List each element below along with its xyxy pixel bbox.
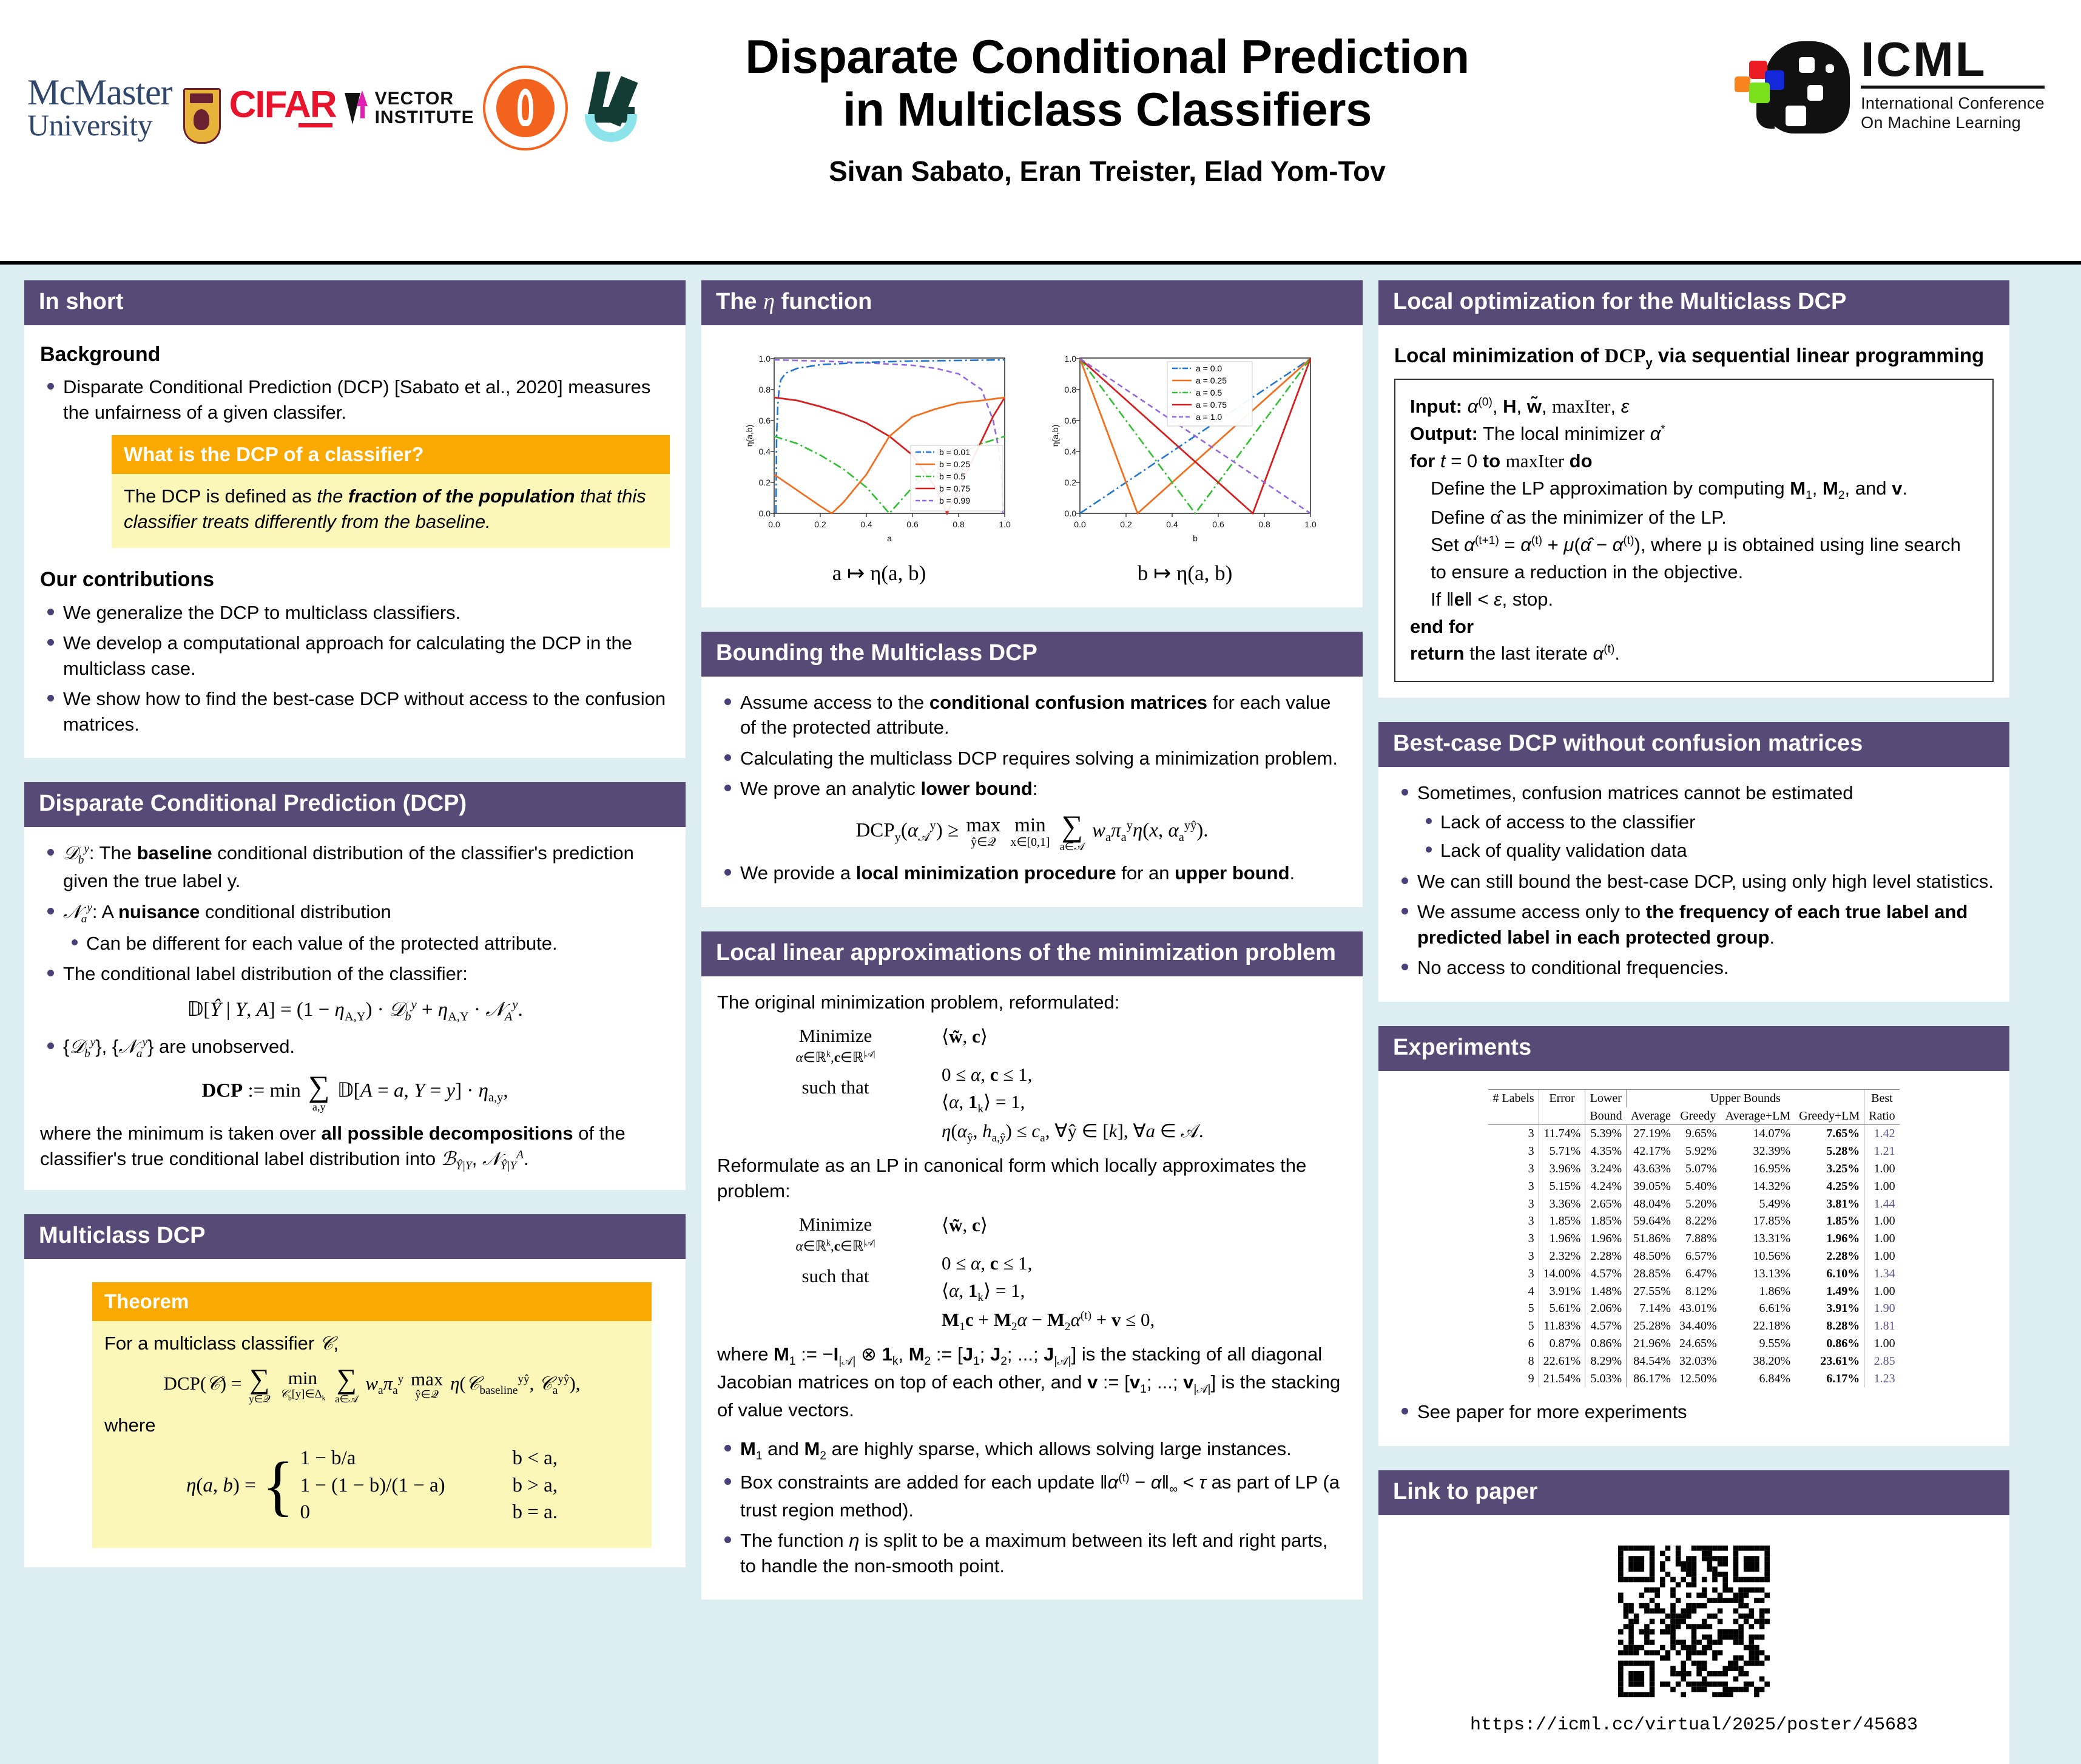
svg-text:0.2: 0.2: [759, 478, 771, 487]
svg-text:0.8: 0.8: [759, 385, 771, 394]
icml-logo: ICML International Conference On Machine…: [1735, 36, 2045, 133]
table-cell: 7.88%: [1675, 1230, 1721, 1248]
table-cell: 2.06%: [1585, 1300, 1627, 1317]
table-cell: 1.96%: [1539, 1230, 1585, 1248]
cifar-wordmark: CIFAR: [229, 88, 336, 122]
table-cell: 5.49%: [1721, 1195, 1795, 1213]
table-cell: 0.87%: [1539, 1335, 1585, 1353]
table-cell: 3: [1488, 1230, 1539, 1248]
algo-step-1: Define the LP approximation by computing…: [1410, 475, 1978, 504]
table-cell: 1.23: [1864, 1370, 1900, 1388]
dcp-b2-b: conditional distribution: [200, 901, 391, 922]
contributions-list: We generalize the DCP to multiclass clas…: [40, 600, 670, 737]
algo-step-3-tail: where μ is obtained using line search to…: [1431, 534, 1961, 583]
table-cell: 8.12%: [1675, 1283, 1721, 1300]
table-cell: 11.83%: [1539, 1317, 1585, 1335]
dcp-definition-callout-body: The DCP is defined as the fraction of th…: [112, 474, 670, 548]
table-row: 35.15%4.24%39.05%5.40%14.32%4.25%1.00: [1488, 1178, 1899, 1195]
col-header-average-lm: Average+LM: [1721, 1107, 1795, 1125]
eta-case-1-expr: 1 − (1 − b)/(1 − a): [300, 1472, 458, 1499]
col-header-greedy-lm: Greedy+LM: [1795, 1107, 1864, 1125]
table-row: 33.36%2.65%48.04%5.20%5.49%3.81%1.44: [1488, 1195, 1899, 1213]
list-item: Can be different for each value of the p…: [63, 931, 670, 956]
svg-text:η(a,b): η(a,b): [1050, 425, 1060, 447]
background-bullet-list: Disparate Conditional Prediction (DCP) […: [40, 374, 670, 425]
dcp-sub-list: Can be different for each value of the p…: [63, 931, 670, 956]
list-item: 𝒟by: The baseline conditional distributi…: [40, 840, 670, 893]
svg-text:b = 0.5: b = 0.5: [939, 471, 965, 481]
algo-step-1-tail: , and: [1845, 478, 1887, 499]
vector-logo-line1: VECTOR: [375, 90, 474, 109]
table-cell: 1.85%: [1795, 1212, 1864, 1230]
table-cell: 5.92%: [1675, 1143, 1721, 1160]
cifar-rule: [298, 123, 332, 127]
bounding-bullet-list: Assume access to the conditional confusi…: [717, 690, 1347, 802]
table-row: 921.54%5.03%86.17%12.50%6.84%6.17%1.23: [1488, 1370, 1899, 1388]
section-in-short: In short Background Disparate Conditiona…: [24, 280, 686, 758]
svg-text:b: b: [1193, 533, 1198, 543]
svg-text:a: a: [887, 533, 892, 543]
mcmaster-shield-icon: [183, 88, 221, 144]
theorem-where-label: where: [104, 1413, 639, 1438]
poster-header: McMaster University CIFAR VECTOR INSTITU…: [0, 0, 2081, 265]
table-cell: 27.55%: [1627, 1283, 1675, 1300]
column-middle: The η function 0.0: [701, 280, 1363, 1600]
callout-text-part1: The DCP is defined as: [124, 485, 317, 507]
svg-text:0.8: 0.8: [1065, 385, 1077, 394]
table-cell: 1.21: [1864, 1143, 1900, 1160]
table-cell: 1.96%: [1795, 1230, 1864, 1248]
list-item: The function η is split to be a maximum …: [717, 1528, 1347, 1578]
svg-text:0.6: 0.6: [759, 416, 771, 425]
eta-case-2-cond: b = a.: [513, 1499, 558, 1526]
table-cell: 14.07%: [1721, 1125, 1795, 1143]
table-cell: 43.63%: [1627, 1160, 1675, 1178]
table-cell: 4.57%: [1585, 1317, 1627, 1335]
table-cell: 5.61%: [1539, 1300, 1585, 1317]
section-local-linear-title: Local linear approximations of the minim…: [701, 931, 1363, 976]
table-cell: 38.20%: [1721, 1353, 1795, 1370]
table-cell: 14.32%: [1721, 1178, 1795, 1195]
col-header-ratio: Ratio: [1864, 1107, 1900, 1125]
table-cell: 1.34: [1864, 1265, 1900, 1283]
table-cell: 1.81: [1864, 1317, 1900, 1335]
table-cell: 8.22%: [1675, 1212, 1721, 1230]
table-cell: 3: [1488, 1195, 1539, 1213]
experiments-table: # Labels Error Lower Upper Bounds Best B…: [1488, 1089, 1899, 1388]
list-item: We generalize the DCP to multiclass clas…: [40, 600, 670, 626]
section-multiclass-dcp-title: Multiclass DCP: [24, 1214, 686, 1259]
theorem-callout-title: Theorem: [92, 1282, 652, 1321]
table-cell: 28.85%: [1627, 1265, 1675, 1283]
table-cell: 3: [1488, 1248, 1539, 1265]
table-cell: 51.86%: [1627, 1230, 1675, 1248]
list-item: Assume access to the conditional confusi…: [717, 690, 1347, 740]
table-cell: 6.84%: [1721, 1370, 1795, 1388]
table-cell: 27.19%: [1627, 1125, 1675, 1143]
table-cell: 8.29%: [1585, 1353, 1627, 1370]
suchthat-label-2: such that: [772, 1263, 899, 1289]
table-row: 822.61%8.29%84.54%32.03%38.20%23.61%2.85: [1488, 1353, 1899, 1370]
col-header-lower: Lower: [1585, 1089, 1627, 1107]
svg-text:a = 0.75: a = 0.75: [1196, 400, 1227, 410]
list-item: Disparate Conditional Prediction (DCP) […: [40, 374, 670, 425]
list-item: We provide a local minimization procedur…: [717, 860, 1347, 886]
algo-do-label: do: [1570, 450, 1593, 471]
table-cell: 4.57%: [1585, 1265, 1627, 1283]
table-cell: 48.50%: [1627, 1248, 1675, 1265]
svg-text:0.2: 0.2: [1120, 519, 1132, 529]
contributions-label: Our contributions: [40, 566, 670, 594]
table-cell: 4.25%: [1795, 1178, 1864, 1195]
table-cell: 1.42: [1864, 1125, 1900, 1143]
table-cell: 4.24%: [1585, 1178, 1627, 1195]
bounding-bullet-list-2: We provide a local minimization procedur…: [717, 860, 1347, 886]
table-cell: 42.17%: [1627, 1143, 1675, 1160]
dcp-definition-callout-title: What is the DCP of a classifier?: [112, 435, 670, 474]
eta-heading-pre: The: [716, 289, 763, 314]
section-best-case-dcp: Best-case DCP without confusion matrices…: [1378, 722, 2009, 1002]
algorithm-title: Local minimization of DCPy via sequentia…: [1394, 342, 1994, 371]
svg-text:b = 0.01: b = 0.01: [939, 447, 970, 457]
svg-text:1.0: 1.0: [999, 519, 1011, 529]
algo-to-label: to: [1483, 450, 1500, 471]
bounding-b4-a: We provide a: [740, 862, 856, 884]
bc-b1: Sometimes, confusion matrices cannot be …: [1417, 782, 1853, 803]
theorem-callout: Theorem For a multiclass classifier 𝒞, D…: [92, 1282, 652, 1549]
list-item: 𝒩ay: A nuisance conditional distribution…: [40, 899, 670, 956]
svg-text:0.0: 0.0: [1074, 519, 1086, 529]
bounding-b1-a: Assume access to the: [740, 692, 929, 713]
section-multiclass-dcp: Multiclass DCP Theorem For a multiclass …: [24, 1214, 686, 1568]
vector-arrow-icon: [345, 93, 371, 124]
table-cell: 32.39%: [1721, 1143, 1795, 1160]
chart-eta-vs-b-caption: b ↦ η(a, b): [1138, 559, 1232, 588]
dcp-bullet-list: 𝒟by: The baseline conditional distributi…: [40, 840, 670, 986]
table-cell: 1.00: [1864, 1283, 1900, 1300]
table-cell: 0.86%: [1795, 1335, 1864, 1353]
table-cell: 16.95%: [1721, 1160, 1795, 1178]
col-header-bound: Bound: [1585, 1107, 1627, 1125]
table-cell: 12.50%: [1675, 1370, 1721, 1388]
table-cell: 3.81%: [1795, 1195, 1864, 1213]
vector-institute-logo: VECTOR INSTITUTE: [345, 90, 474, 127]
column-left: In short Background Disparate Conditiona…: [24, 280, 686, 1567]
table-row: 314.00%4.57%28.85%6.47%13.13%6.10%1.34: [1488, 1265, 1899, 1283]
ll-b2-pre: Box constraints are added for each updat…: [740, 1472, 1100, 1493]
section-link-to-paper: Link to paper https://icml.cc/virtual/20…: [1378, 1470, 2009, 1764]
dcp-where-strong: all possible decompositions: [321, 1123, 573, 1144]
qr-code-image[interactable]: [1618, 1546, 1770, 1697]
section-eta-function-title: The η function: [701, 280, 1363, 325]
algo-title-pre: Local minimization of: [1394, 344, 1605, 367]
bc-b3-b: .: [1770, 927, 1775, 948]
eta-case-2-expr: 0: [300, 1499, 458, 1526]
chart-eta-vs-a-legend: b = 0.01 b = 0.25 b = 0.5 b = 0.75 b = 0…: [911, 445, 1003, 511]
table-cell: 6.10%: [1795, 1265, 1864, 1283]
algo-step-4: If ‖e‖ < ε, stop.: [1410, 586, 1978, 613]
equation-multiclass-dcp: DCP(𝒞) = ∑y∈𝒬 min𝒞b[y]∈Δk ∑a∈𝒜 waπay max…: [104, 1366, 639, 1405]
table-cell: 1.48%: [1585, 1283, 1627, 1300]
svg-text:0.6: 0.6: [1065, 416, 1077, 425]
eta-case-1-cond: b > a,: [513, 1472, 558, 1499]
section-link-to-paper-title: Link to paper: [1378, 1470, 2009, 1515]
table-cell: 6.61%: [1721, 1300, 1795, 1317]
svg-text:a = 0.0: a = 0.0: [1196, 363, 1222, 373]
bounding-b4-b: for an: [1116, 862, 1175, 884]
best-case-sub-list: Lack of access to the classifier Lack of…: [1417, 809, 1994, 863]
column-right: Local optimization for the Multiclass DC…: [1378, 280, 2009, 1764]
table-cell: 1.00: [1864, 1335, 1900, 1353]
algo-output-text: The local minimizer: [1483, 423, 1645, 444]
list-item: Lack of access to the classifier: [1417, 809, 1994, 835]
table-cell: 9: [1488, 1370, 1539, 1388]
chart-eta-vs-b-legend: a = 0.0 a = 0.25 a = 0.5 a = 0.75 a = 1.…: [1167, 362, 1252, 426]
dcp-where-text: where the minimum is taken over all poss…: [40, 1121, 670, 1174]
svg-text:0.0: 0.0: [1065, 509, 1077, 518]
algo-title-post: via sequential linear programming: [1653, 344, 1984, 367]
svg-text:a = 0.5: a = 0.5: [1196, 388, 1222, 397]
local-linear-where: where M1 := −I|𝒜| ⊗ 1k, M2 := [J1; J2; .…: [717, 1342, 1347, 1422]
table-cell: 3.91%: [1539, 1283, 1585, 1300]
table-cell: 11.74%: [1539, 1125, 1585, 1143]
bounding-b3-strong: lower bound: [921, 778, 1033, 799]
algo-output-label: Output:: [1410, 423, 1478, 444]
table-cell: 1.00: [1864, 1230, 1900, 1248]
svg-text:0.0: 0.0: [768, 519, 780, 529]
table-cell: 3.24%: [1585, 1160, 1627, 1178]
list-item: We prove an analytic lower bound:: [717, 776, 1347, 802]
col-header-upper-bounds: Upper Bounds: [1627, 1089, 1864, 1107]
bounding-b3-a: We prove an analytic: [740, 778, 921, 799]
table-cell: 39.05%: [1627, 1178, 1675, 1195]
table-cell: 21.54%: [1539, 1370, 1585, 1388]
list-item: Calculating the multiclass DCP requires …: [717, 746, 1347, 771]
mcmaster-logo-line2: University: [27, 110, 152, 140]
table-cell: 3: [1488, 1178, 1539, 1195]
table-cell: 13.31%: [1721, 1230, 1795, 1248]
table-cell: 2.28%: [1585, 1248, 1627, 1265]
table-cell: 6: [1488, 1335, 1539, 1353]
icml-head-icon: [1735, 36, 1850, 133]
table-cell: 1.00: [1864, 1160, 1900, 1178]
table-cell: 6.57%: [1675, 1248, 1721, 1265]
svg-text:0.2: 0.2: [814, 519, 826, 529]
table-row: 33.96%3.24%43.63%5.07%16.95%3.25%1.00: [1488, 1160, 1899, 1178]
section-experiments-title: Experiments: [1378, 1026, 2009, 1071]
table-cell: 23.61%: [1795, 1353, 1864, 1370]
svg-text:1.0: 1.0: [1065, 354, 1077, 363]
equation-conditional-label-distribution: 𝔻[Ŷ | Y, A] = (1 − ηA,Y) · 𝒟by + ηA,Y · …: [40, 996, 670, 1026]
chart-eta-vs-b-svg: 0.0 0.2 0.4 0.6 0.8 1.0: [1042, 350, 1327, 550]
table-cell: 1.85%: [1585, 1212, 1627, 1230]
table-cell: 5.07%: [1675, 1160, 1721, 1178]
table-row: 31.85%1.85%59.64%8.22%17.85%1.85%1.00: [1488, 1212, 1899, 1230]
eta-case-0-cond: b < a,: [513, 1445, 558, 1472]
table-cell: 86.17%: [1627, 1370, 1675, 1388]
table-header-row-1: # Labels Error Lower Upper Bounds Best: [1488, 1089, 1899, 1107]
local-linear-intro: The original minimization problem, refor…: [717, 990, 1347, 1015]
table-cell: 22.61%: [1539, 1353, 1585, 1370]
algo-step-1-text: Define the LP approximation by computing: [1431, 478, 1785, 499]
col-header-greedy: Greedy: [1675, 1107, 1721, 1125]
table-cell: 0.86%: [1585, 1335, 1627, 1353]
best-case-bullet-list: Sometimes, confusion matrices cannot be …: [1394, 780, 1994, 981]
table-cell: 5.40%: [1675, 1178, 1721, 1195]
callout-text-strong: fraction of the population: [348, 485, 575, 507]
bounding-b4-c: .: [1290, 862, 1295, 884]
bgu-flame-icon: [518, 89, 533, 126]
table-cell: 3: [1488, 1143, 1539, 1160]
eta-heading-post: function: [775, 289, 872, 314]
svg-text:0.4: 0.4: [1065, 447, 1077, 456]
icml-wordmark: ICML: [1861, 37, 2045, 82]
svg-text:a = 1.0: a = 1.0: [1196, 412, 1222, 422]
svg-text:η(a,b): η(a,b): [744, 425, 754, 447]
svg-text:0.8: 0.8: [953, 519, 965, 529]
section-dcp: Disparate Conditional Prediction (DCP) 𝒟…: [24, 782, 686, 1189]
table-cell: 5.28%: [1795, 1143, 1864, 1160]
table-cell: 7.65%: [1795, 1125, 1864, 1143]
optimization-problem-2: Minimize α∈ℝk,c∈ℝ|𝒜| such that ⟨w̃, c⟩ 0…: [717, 1212, 1347, 1336]
section-local-optimization: Local optimization for the Multiclass DC…: [1378, 280, 2009, 698]
equation-eta-cases: η(a, b) = { 1 − b/ab < a, 1 − (1 − b)/(1…: [104, 1445, 639, 1527]
cifar-logo: CIFAR: [229, 88, 336, 127]
table-cell: 2.28%: [1795, 1248, 1864, 1265]
poster-root: McMaster University CIFAR VECTOR INSTITU…: [0, 0, 2081, 1566]
equation-lower-bound: DCPy(α𝒜y) ≥ maxŷ∈𝒬 minx∈[0,1] ∑a∈𝒜 waπay…: [717, 811, 1347, 853]
table-cell: 1.00: [1864, 1212, 1900, 1230]
table-cell: 2.65%: [1585, 1195, 1627, 1213]
ll-b1: are highly sparse, which allows solving …: [826, 1438, 1292, 1459]
algo-step-2: Define α̂ as the minimizer of the LP.: [1410, 504, 1978, 532]
table-cell: 5.71%: [1539, 1143, 1585, 1160]
icml-subtitle-line1: International Conference: [1861, 93, 2045, 113]
section-best-case-dcp-title: Best-case DCP without confusion matrices: [1378, 722, 2009, 767]
table-cell: 5.15%: [1539, 1178, 1585, 1195]
mcmaster-logo: McMaster University: [27, 75, 172, 140]
dcp-where-a: where the minimum is taken over: [40, 1123, 321, 1144]
author-list: Sivan Sabato, Eran Treister, Elad Yom-To…: [534, 155, 1681, 188]
svg-text:0.2: 0.2: [1065, 478, 1077, 487]
vector-logo-line2: INSTITUTE: [375, 109, 474, 127]
section-dcp-title: Disparate Conditional Prediction (DCP): [24, 782, 686, 827]
chart-eta-vs-a-caption: a ↦ η(a, b): [832, 559, 926, 588]
table-cell: 59.64%: [1627, 1212, 1675, 1230]
algo-for-line: for t = 0 to maxIter do: [1410, 448, 1978, 475]
list-item: See paper for more experiments: [1394, 1399, 1994, 1425]
bounding-b3-b: :: [1033, 778, 1038, 799]
dcp-bullet-list-2: {𝒟by}, {𝒩ay} are unobserved.: [40, 1034, 670, 1062]
table-cell: 21.96%: [1627, 1335, 1675, 1353]
col-header-error: Error: [1539, 1089, 1585, 1125]
list-item: We develop a computational approach for …: [40, 630, 670, 681]
algo-endfor-label: end for: [1410, 616, 1474, 637]
table-cell: 3: [1488, 1125, 1539, 1143]
table-cell: 3.96%: [1539, 1160, 1585, 1178]
local-linear-bullet-list: M1 and M2 are highly sparse, which allow…: [717, 1436, 1347, 1578]
table-cell: 3.91%: [1795, 1300, 1864, 1317]
list-item: Box constraints are added for each updat…: [717, 1470, 1347, 1522]
table-cell: 4: [1488, 1283, 1539, 1300]
table-row: 35.71%4.35%42.17%5.92%32.39%5.28%1.21: [1488, 1143, 1899, 1160]
table-row: 32.32%2.28%48.50%6.57%10.56%2.28%1.00: [1488, 1248, 1899, 1265]
table-cell: 2.32%: [1539, 1248, 1585, 1265]
page-title: Disparate Conditional Prediction in Mult…: [534, 30, 1681, 137]
table-cell: 3.25%: [1795, 1160, 1864, 1178]
algorithm-box: Input: α(0), H, w̃, maxIter, ε Output: T…: [1394, 379, 1994, 682]
section-in-short-title: In short: [24, 280, 686, 325]
algo-endfor: end for: [1410, 613, 1978, 641]
section-experiments: Experiments # Labels Error Lower Upper B…: [1378, 1026, 2009, 1446]
experiments-footnote-list: See paper for more experiments: [1394, 1399, 1994, 1425]
dcp-b1-a: : The: [89, 842, 137, 863]
table-cell: 5.03%: [1585, 1370, 1627, 1388]
list-item: Sometimes, confusion matrices cannot be …: [1394, 780, 1994, 863]
section-local-optimization-title: Local optimization for the Multiclass DC…: [1378, 280, 2009, 325]
section-bounding: Bounding the Multiclass DCP Assume acces…: [701, 632, 1363, 907]
list-item: M1 and M2 are highly sparse, which allow…: [717, 1436, 1347, 1464]
list-item: We assume access only to the frequency o…: [1394, 899, 1994, 950]
list-item: The conditional label distribution of th…: [40, 961, 670, 987]
bounding-b4-strong1: local minimization procedure: [856, 862, 1116, 884]
list-item: No access to conditional frequencies.: [1394, 955, 1994, 981]
svg-text:b = 0.75: b = 0.75: [939, 484, 970, 493]
table-cell: 32.03%: [1675, 1353, 1721, 1370]
table-cell: 4.35%: [1585, 1143, 1627, 1160]
bounding-b4-strong2: upper bound: [1175, 862, 1289, 884]
svg-text:1.0: 1.0: [759, 354, 771, 363]
algo-step-3: Set α(t+1) = α(t) + μ(α̂ − α(t)), where …: [1410, 532, 1978, 586]
eta-plots: 0.0 0.2 0.4 0.6 0.8 1.0: [717, 339, 1347, 592]
svg-text:0.6: 0.6: [1212, 519, 1224, 529]
table-cell: 5.20%: [1675, 1195, 1721, 1213]
table-cell: 8: [1488, 1353, 1539, 1370]
poster-columns: In short Background Disparate Conditiona…: [0, 265, 2081, 1764]
table-cell: 1.49%: [1795, 1283, 1864, 1300]
table-cell: 48.04%: [1627, 1195, 1675, 1213]
dcp-b4-tail: are unobserved.: [153, 1036, 295, 1057]
algo-return-label: return: [1410, 643, 1465, 664]
ll-b3-pre: The function: [740, 1530, 849, 1551]
algo-return: return the last iterate α(t).: [1410, 640, 1978, 667]
svg-text:0.4: 0.4: [860, 519, 872, 529]
table-cell: 1.85%: [1539, 1212, 1585, 1230]
section-local-linear: Local linear approximations of the minim…: [701, 931, 1363, 1600]
table-cell: 9.65%: [1675, 1125, 1721, 1143]
dcp-b2-a: : A: [92, 901, 118, 922]
svg-text:0.4: 0.4: [759, 447, 771, 456]
table-cell: 3.36%: [1539, 1195, 1585, 1213]
section-eta-function: The η function 0.0: [701, 280, 1363, 607]
optimization-problem-1: Minimize α∈ℝk,c∈ℝ|𝒜| such that ⟨w̃, c⟩ 0…: [717, 1023, 1347, 1147]
title-line-2: in Multiclass Classifiers: [534, 83, 1681, 136]
table-row: 31.96%1.96%51.86%7.88%13.31%1.96%1.00: [1488, 1230, 1899, 1248]
bounding-b1-strong: conditional confusion matrices: [929, 692, 1207, 713]
background-label: Background: [40, 341, 670, 369]
table-row: 511.83%4.57%25.28%34.40%22.18%8.28%1.81: [1488, 1317, 1899, 1335]
experiments-table-body: 311.74%5.39%27.19%9.65%14.07%7.65%1.4235…: [1488, 1125, 1899, 1387]
dcp-b1-strong: baseline: [137, 842, 212, 863]
dcp-definition-callout: What is the DCP of a classifier? The DCP…: [112, 435, 670, 549]
callout-text-em: the: [317, 485, 348, 507]
svg-text:0.8: 0.8: [1258, 519, 1270, 529]
eta-heading-symbol: η: [763, 289, 775, 314]
algo-return-text: the last iterate: [1469, 643, 1588, 664]
table-cell: 5: [1488, 1300, 1539, 1317]
list-item: {𝒟by}, {𝒩ay} are unobserved.: [40, 1034, 670, 1062]
paper-url[interactable]: https://icml.cc/virtual/2025/poster/4568…: [1470, 1713, 1918, 1737]
